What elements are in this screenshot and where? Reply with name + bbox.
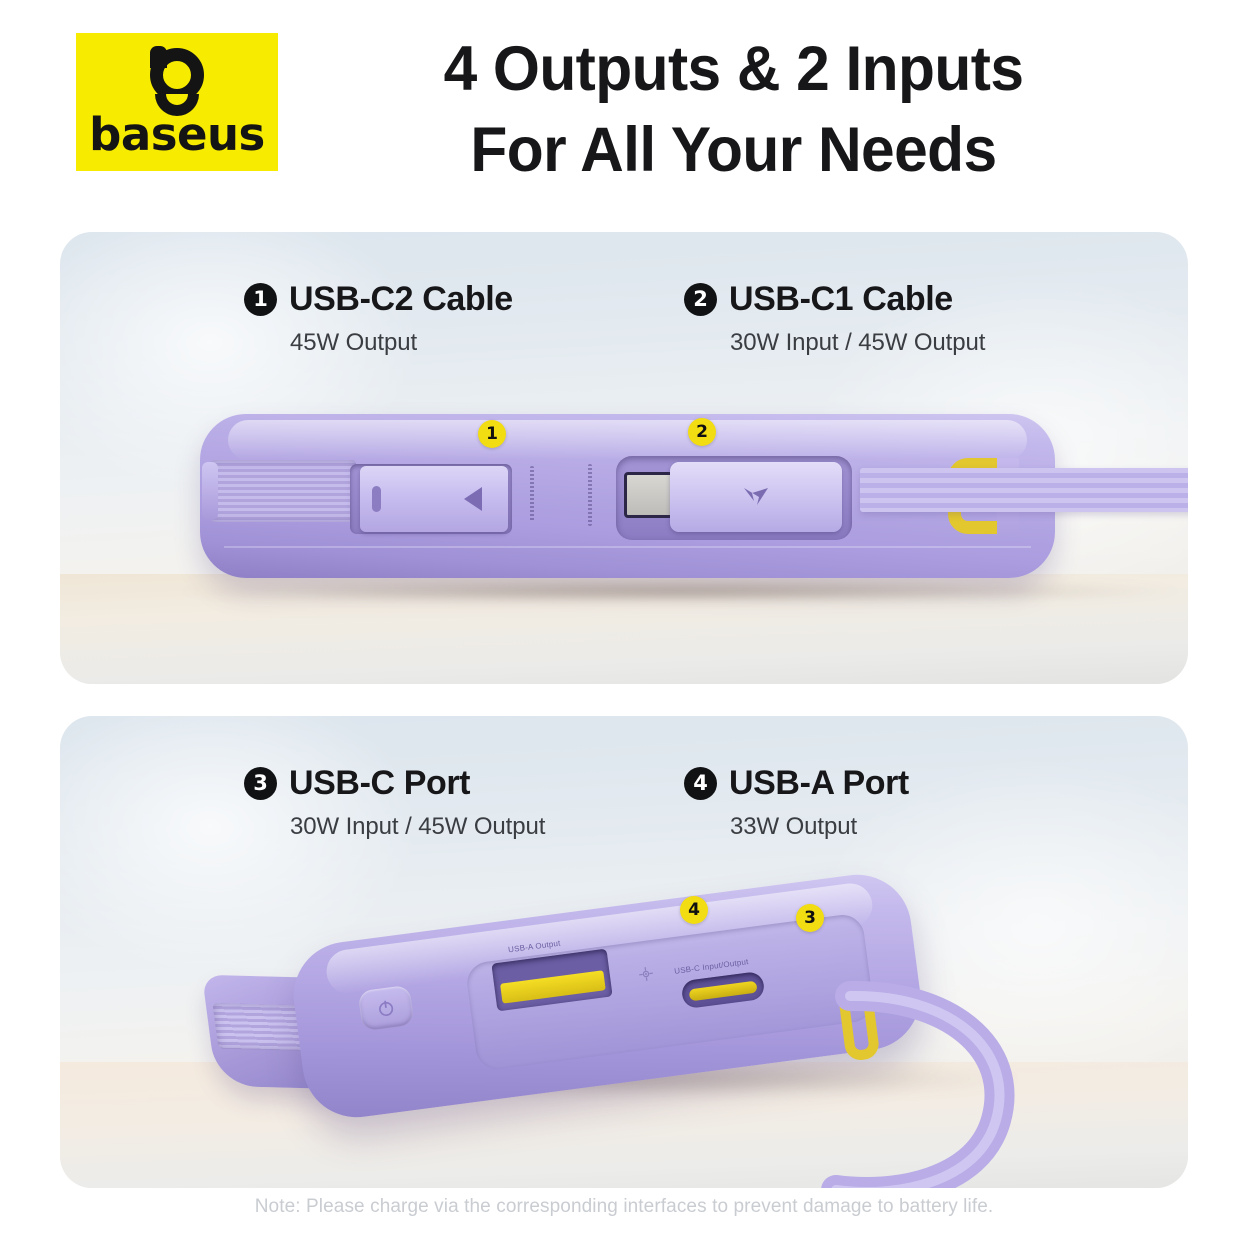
callout-badge-3: 3 xyxy=(796,904,824,932)
feature-number-badge-3: 3 xyxy=(244,767,277,800)
product-photo-port-view: USB-A Output USB-C Input/Output 4 3 xyxy=(60,892,1188,1188)
feature-card-ports: 3 USB-C Port 30W Input / 45W Output 4 US… xyxy=(60,716,1188,1188)
product-photo-top-view: 1 2 xyxy=(60,408,1188,684)
lightning-bolt-icon xyxy=(741,483,771,511)
footer-note: Note: Please charge via the correspondin… xyxy=(0,1196,1248,1218)
callout-badge-1: 1 xyxy=(478,420,506,448)
feature-label-usb-a-port: 4 USB-A Port 33W Output xyxy=(684,766,1104,841)
feature-label-usb-c-port: 3 USB-C Port 30W Input / 45W Output xyxy=(244,766,684,841)
cable-coil-end-cap xyxy=(202,462,218,520)
feature-spec-2: 30W Input / 45W Output xyxy=(730,329,1104,357)
product-feature-page: baseus 4 Outputs & 2 Inputs For All Your… xyxy=(0,0,1248,1248)
baseus-b-mark-icon xyxy=(146,48,208,110)
feature-label-usb-c2-cable: 1 USB-C2 Cable 45W Output xyxy=(244,282,684,357)
usb-c2-cable-head xyxy=(360,466,508,532)
feature-title-3: USB-C Port xyxy=(289,766,470,800)
feature-label-group-cables: 1 USB-C2 Cable 45W Output 2 USB-C1 Cable… xyxy=(244,282,1104,357)
headline-line-1: 4 Outputs & 2 Inputs xyxy=(309,29,1159,110)
feature-spec-1: 45W Output xyxy=(290,329,684,357)
stowed-cable-coil xyxy=(208,460,356,522)
cable-head-notch xyxy=(372,486,381,512)
body-microtext-2 xyxy=(588,464,592,526)
feature-number-badge-1: 1 xyxy=(244,283,277,316)
usb-c1-connector-tip xyxy=(624,472,676,518)
power-button[interactable] xyxy=(358,985,415,1031)
power-icon xyxy=(375,997,397,1019)
callout-badge-4: 4 xyxy=(680,896,708,924)
feature-label-group-ports: 3 USB-C Port 30W Input / 45W Output 4 US… xyxy=(244,766,1104,841)
feature-spec-3: 30W Input / 45W Output xyxy=(290,813,684,841)
feature-number-badge-4: 4 xyxy=(684,767,717,800)
feature-card-cables: 1 USB-C2 Cable 45W Output 2 USB-C1 Cable… xyxy=(60,232,1188,684)
table-surface xyxy=(60,574,1188,684)
feature-spec-4: 33W Output xyxy=(730,813,1104,841)
feature-label-usb-c1-cable: 2 USB-C1 Cable 30W Input / 45W Output xyxy=(684,282,1104,357)
stowed-cable-coil xyxy=(212,1003,307,1051)
baseus-wordmark: baseus xyxy=(89,112,265,157)
flat-cable xyxy=(860,468,1188,512)
page-header: baseus 4 Outputs & 2 Inputs For All Your… xyxy=(76,33,1176,183)
feature-title-1: USB-C2 Cable xyxy=(289,282,513,316)
feature-title-2: USB-C1 Cable xyxy=(729,282,953,316)
feature-number-badge-2: 2 xyxy=(684,283,717,316)
baseus-logo-badge: baseus xyxy=(76,33,278,171)
led-indicator-icon xyxy=(637,965,655,983)
usb-c1-cable-head xyxy=(670,462,842,532)
page-title: 4 Outputs & 2 Inputs For All Your Needs xyxy=(291,29,1176,190)
body-microtext-1 xyxy=(530,466,534,522)
feature-title-4: USB-A Port xyxy=(729,766,909,800)
headline-line-2: For All Your Needs xyxy=(309,110,1159,191)
callout-badge-2: 2 xyxy=(688,418,716,446)
cable-release-arrow-icon xyxy=(464,487,482,511)
